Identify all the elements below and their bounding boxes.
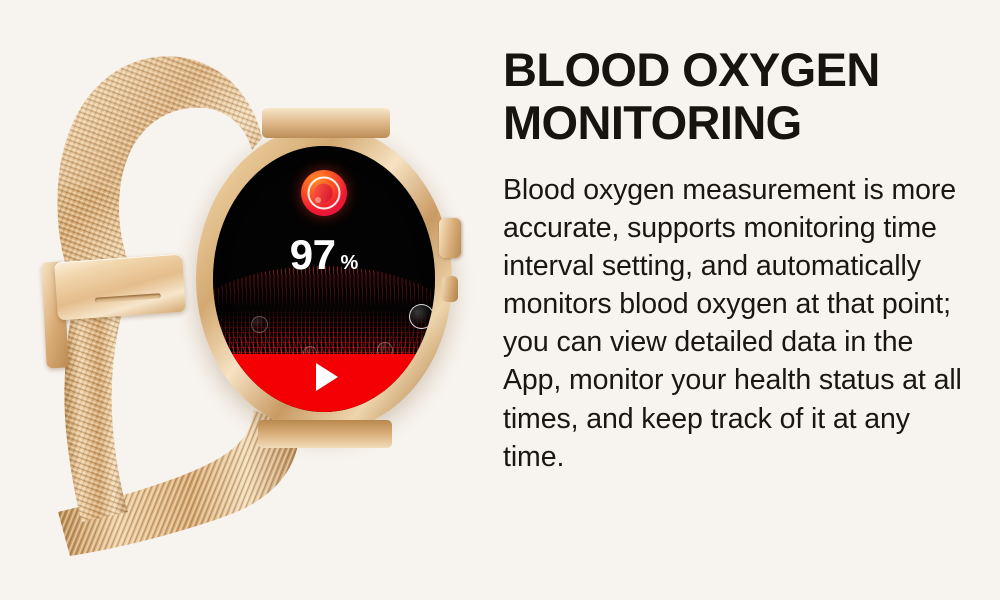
spo2-reading: 97% <box>213 234 435 276</box>
spo2-value: 97 <box>290 231 336 278</box>
measure-start-bar[interactable] <box>213 354 435 412</box>
watch-case: 97% <box>196 126 452 432</box>
bubble-icon <box>251 316 268 333</box>
clasp-slot <box>95 293 161 303</box>
watch-lug-bottom <box>258 420 392 448</box>
blood-drop-icon <box>301 170 347 216</box>
product-image: 97% <box>0 0 490 600</box>
watch-crown-button[interactable] <box>439 218 461 258</box>
promo-banner: 97% BLOOD OXYGEN MONITORING Blood oxygen… <box>0 0 1000 600</box>
watch-lug-top <box>262 108 390 138</box>
copy-block: BLOOD OXYGEN MONITORING Blood oxygen mea… <box>503 44 973 476</box>
watch-screen[interactable]: 97% <box>213 146 435 412</box>
spo2-unit: % <box>340 252 358 274</box>
watch-clasp <box>54 254 186 321</box>
bubble-icon <box>409 304 434 329</box>
watch-side-button[interactable] <box>442 276 458 302</box>
play-icon <box>316 363 338 391</box>
body-description: Blood oxygen measurement is more accurat… <box>503 171 973 475</box>
page-title: BLOOD OXYGEN MONITORING <box>503 44 973 149</box>
